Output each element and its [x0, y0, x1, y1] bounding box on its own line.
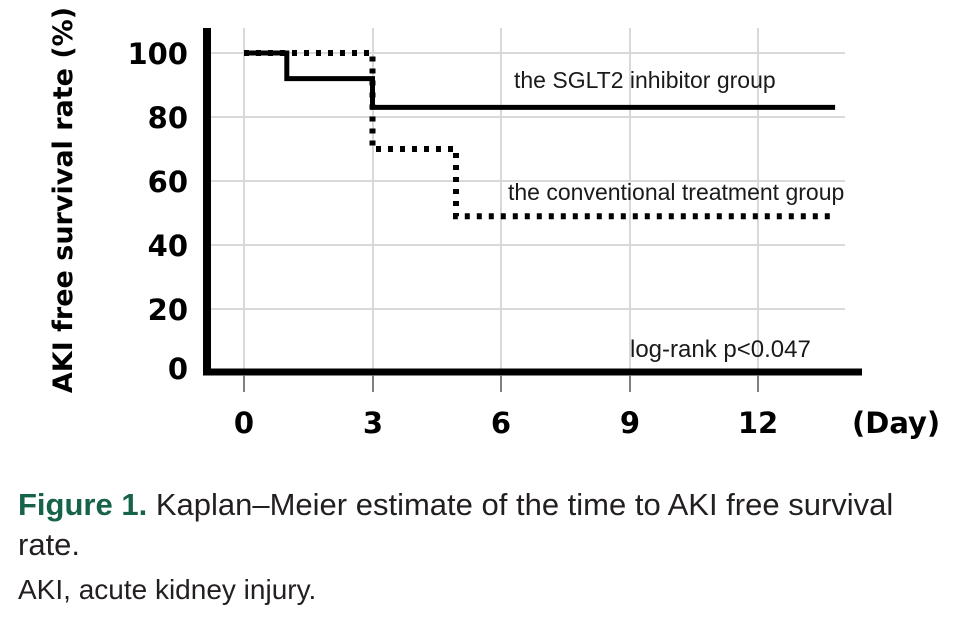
y-tick-labels: 100 80 60 40 20 0 — [127, 37, 188, 386]
x-tick-label-9: 9 — [620, 406, 640, 440]
figure-caption: Figure 1. Kaplan–Meier estimate of the t… — [18, 485, 948, 608]
x-tick-label-12: 12 — [738, 406, 778, 440]
x-tick-label-3: 3 — [363, 406, 383, 440]
series-label-sglt2-inhibitor-group: the SGLT2 inhibitor group — [514, 67, 776, 93]
y-tick-label-100: 100 — [127, 37, 188, 71]
figure-number-label: Figure 1. — [18, 487, 147, 522]
chart-svg: 100 80 60 40 20 0 0 3 6 9 12 — [0, 0, 966, 470]
y-tick-label-60: 60 — [148, 165, 188, 199]
x-tick-marks — [244, 376, 758, 392]
y-tick-label-40: 40 — [148, 229, 188, 263]
series-label-conventional-treatment-group: the conventional treatment group — [508, 179, 844, 205]
y-tick-label-0: 0 — [168, 352, 188, 386]
figure-container: 100 80 60 40 20 0 0 3 6 9 12 — [0, 0, 966, 642]
log-rank-pvalue-annotation: log-rank p<0.047 — [630, 336, 811, 363]
y-tick-label-80: 80 — [148, 101, 188, 135]
figure-title-text: Kaplan–Meier estimate of the time to AKI… — [18, 487, 893, 562]
y-axis-title: AKI free survival rate (%) — [48, 7, 79, 393]
x-tick-label-0: 0 — [234, 406, 254, 440]
x-tick-label-6: 6 — [491, 406, 511, 440]
figure-abbreviation-note: AKI, acute kidney injury. — [18, 572, 948, 608]
x-axis-unit-label: (Day) — [852, 406, 940, 440]
kaplan-meier-chart: 100 80 60 40 20 0 0 3 6 9 12 — [0, 0, 966, 470]
y-tick-label-20: 20 — [148, 293, 188, 327]
x-tick-labels: 0 3 6 9 12 — [234, 406, 778, 440]
